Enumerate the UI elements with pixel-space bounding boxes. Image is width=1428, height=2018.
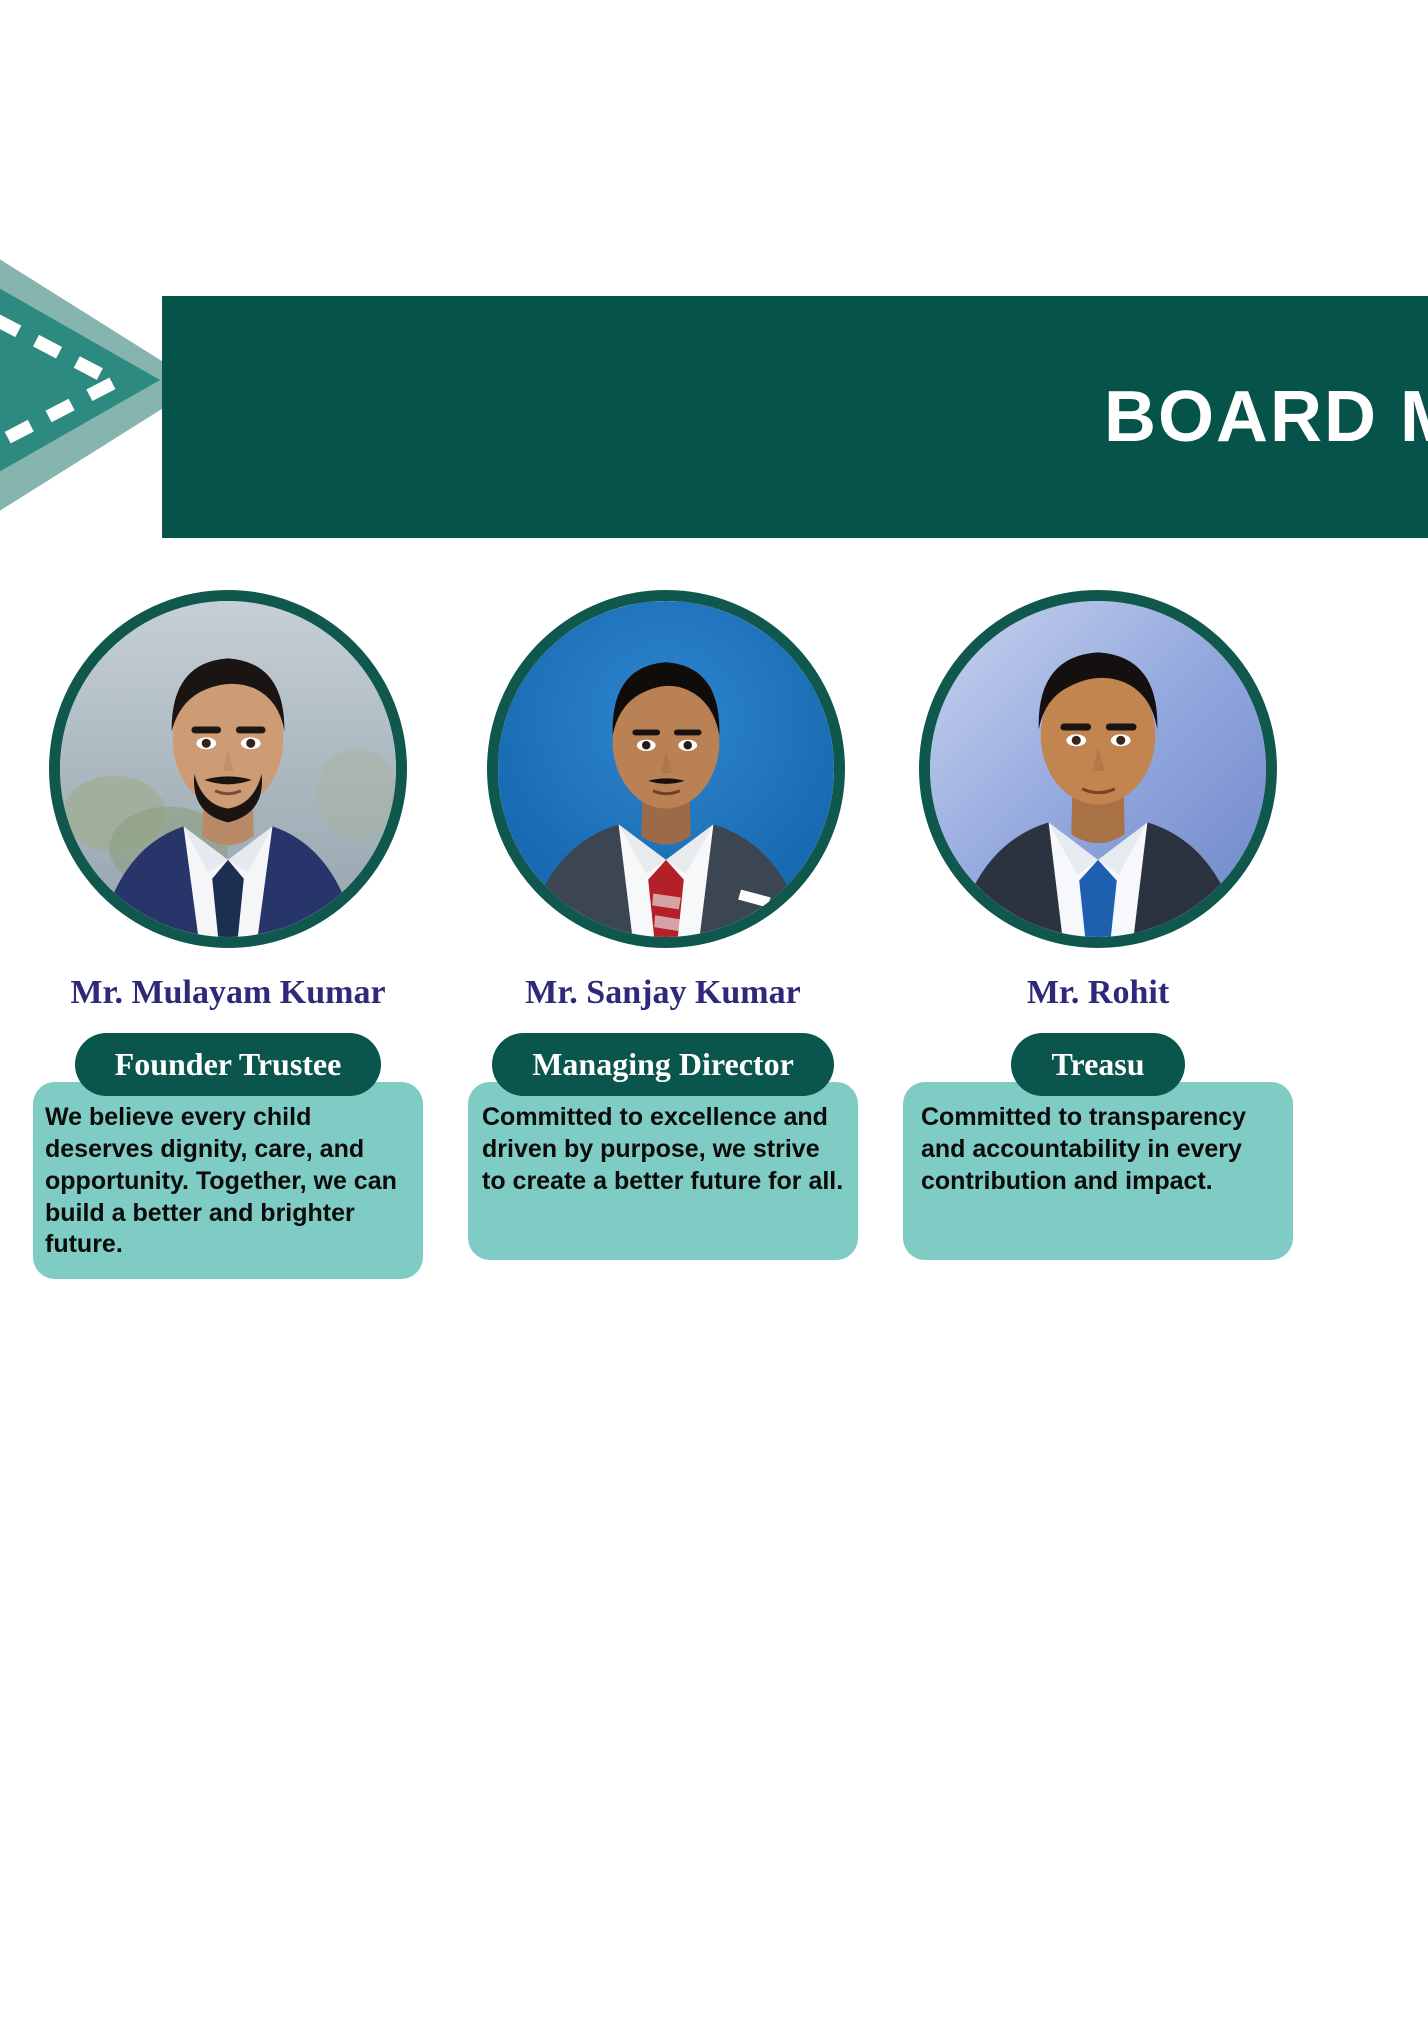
member-avatar-ring: [487, 590, 845, 948]
member-avatar-ring: [49, 590, 407, 948]
member-role-badge: Founder Trustee: [75, 1033, 382, 1096]
portrait-mulayam-kumar: [60, 601, 396, 937]
member-role-badge: Managing Director: [492, 1033, 834, 1096]
member-role-badge: Treasu: [1011, 1033, 1184, 1096]
portrait-rohit: [930, 601, 1266, 937]
member-name: Mr. Sanjay Kumar: [525, 974, 800, 1011]
board-members-page: BOARD M: [0, 0, 1428, 2018]
board-member-card: Mr. Sanjay Kumar Managing Director Commi…: [468, 590, 858, 1260]
page-header-banner: BOARD M: [162, 296, 1428, 538]
member-name: Mr. Rohit: [1027, 974, 1169, 1011]
member-avatar-ring: [919, 590, 1277, 948]
page-title: BOARD M: [1086, 376, 1428, 458]
member-name: Mr. Mulayam Kumar: [70, 974, 385, 1011]
board-members-list: Mr. Mulayam Kumar Founder Trustee We bel…: [0, 590, 1428, 1350]
member-quote-card: Committed to transparency and accountabi…: [903, 1082, 1293, 1260]
member-quote-card: Committed to excellence and driven by pu…: [468, 1082, 858, 1260]
member-quote-card: We believe every child deserves dignity,…: [33, 1082, 423, 1279]
board-member-card: Mr. Rohit Treasu Committed to transparen…: [903, 590, 1293, 1260]
board-member-card: Mr. Mulayam Kumar Founder Trustee We bel…: [33, 590, 423, 1279]
portrait-sanjay-kumar: [498, 601, 834, 937]
